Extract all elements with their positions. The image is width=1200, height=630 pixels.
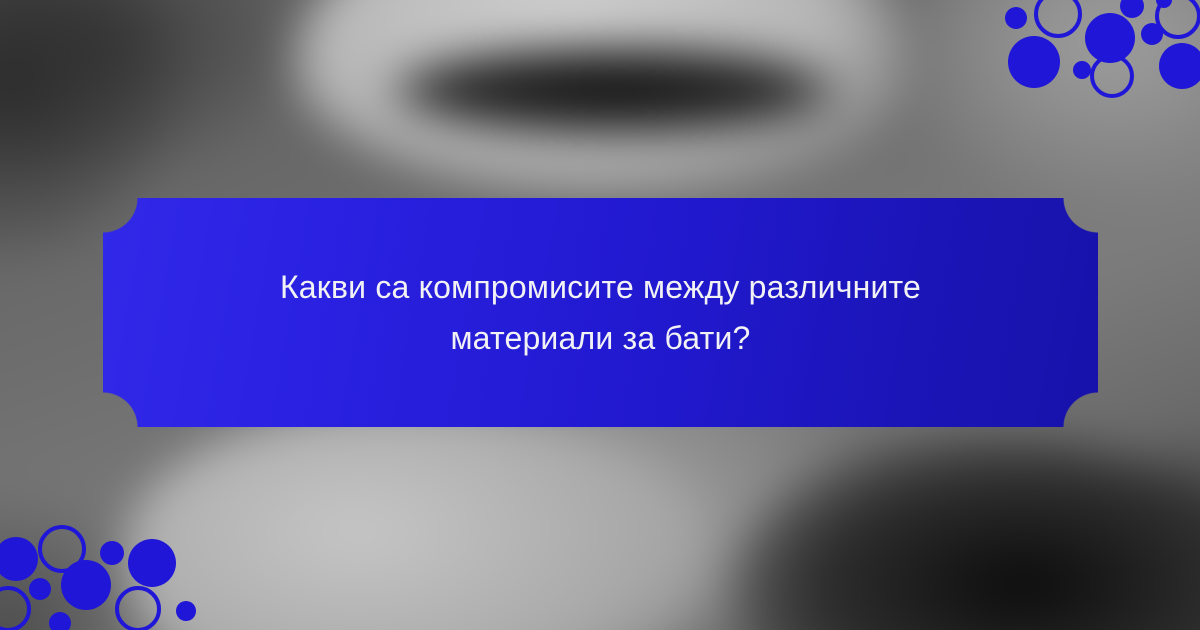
dot-cluster-icon <box>984 0 1200 104</box>
background-blob-brim <box>389 45 838 135</box>
banner-question-text: Какви са компромисите между различните м… <box>201 262 1001 363</box>
decorative-dots-top-right <box>984 0 1200 104</box>
question-banner: Какви са компромисите между различните м… <box>103 198 1098 427</box>
dot-cluster-icon <box>0 513 210 630</box>
share-card: Какви са компромисите между различните м… <box>0 0 1200 630</box>
decorative-dots-bottom-left <box>0 513 210 630</box>
